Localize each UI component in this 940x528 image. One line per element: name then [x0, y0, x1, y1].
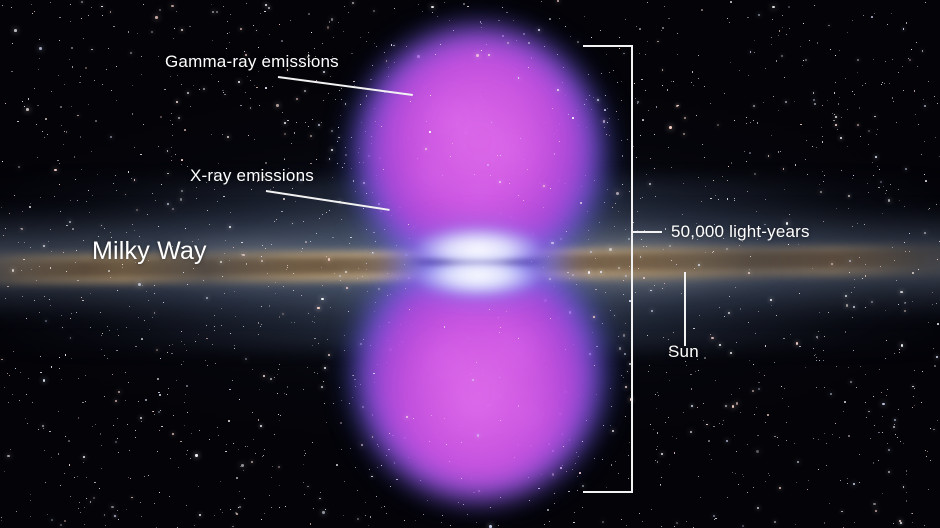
- fermi-bubbles-illustration: Gamma-ray emissions X-ray emissions Milk…: [0, 0, 940, 528]
- gamma-ray-leader-line: [278, 76, 413, 96]
- milky-way-label: Milky Way: [92, 237, 207, 266]
- xray-leader-line: [266, 190, 390, 211]
- sun-label: Sun: [668, 342, 699, 362]
- scale-tick: [632, 231, 662, 233]
- scale-bracket-vertical: [631, 45, 633, 493]
- scale-bracket-top-arm: [583, 45, 632, 47]
- xray-emissions-label: X-ray emissions: [190, 166, 314, 186]
- gamma-ray-emissions-label: Gamma-ray emissions: [165, 52, 339, 72]
- scale-bracket-bottom-arm: [583, 491, 632, 493]
- annotation-layer: Gamma-ray emissions X-ray emissions Milk…: [0, 0, 940, 528]
- scale-distance-label: 50,000 light-years: [671, 222, 810, 242]
- sun-leader-line: [684, 272, 686, 346]
